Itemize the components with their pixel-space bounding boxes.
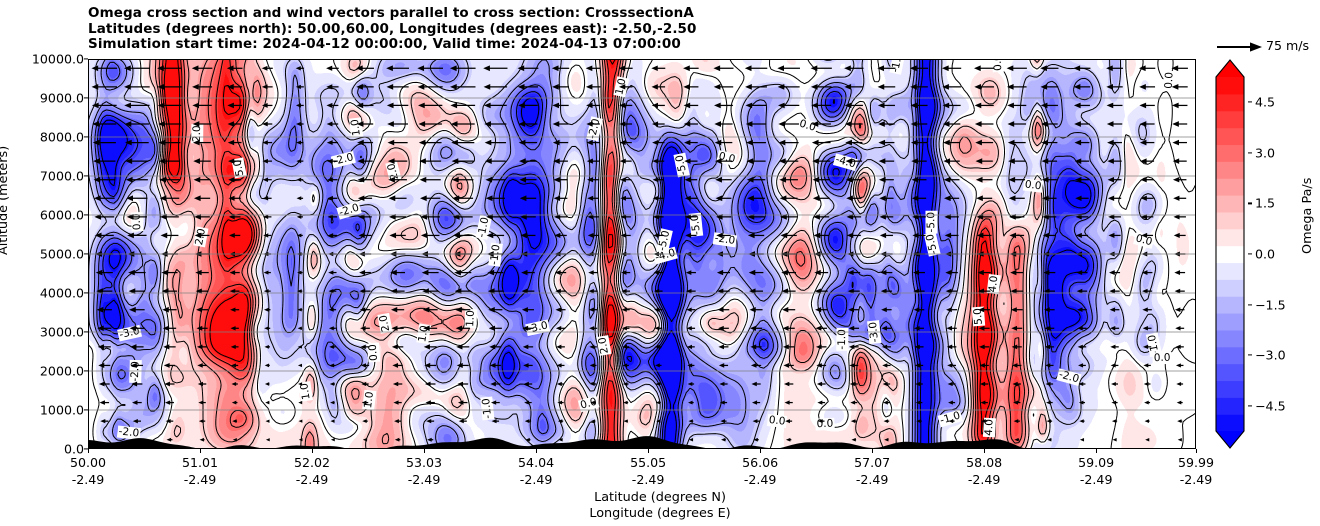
colorbar-tick-mark (1248, 203, 1252, 204)
y-tick-mark (84, 409, 88, 410)
x-tick-mark (984, 449, 985, 453)
figure-title: Omega cross section and wind vectors par… (88, 6, 1198, 53)
colorbar-tick-mark (1248, 152, 1252, 153)
x-tick-label-longitude: -2.49 (632, 472, 665, 487)
y-tick-label: 1000.0 (40, 403, 84, 418)
colorbar-tick-mark (1248, 355, 1252, 356)
y-tick-label: 6000.0 (40, 208, 84, 223)
colorbar-canvas[interactable] (1212, 59, 1248, 449)
x-tick-label-longitude: -2.49 (1180, 472, 1213, 487)
x-tick-mark (88, 449, 89, 453)
y-tick-mark (84, 175, 88, 176)
x-axis-label-longitude: Longitude (degrees E) (0, 506, 1320, 521)
colorbar-tick-label: 0.0 (1255, 247, 1275, 262)
x-tick-label-longitude: -2.49 (1080, 472, 1113, 487)
colorbar-tick-label: −3.0 (1255, 348, 1286, 363)
colorbar-tick-label: −1.5 (1255, 297, 1286, 312)
y-tick-mark (84, 292, 88, 293)
x-tick-mark (760, 449, 761, 453)
x-tick-label-latitude: 59.99 (1178, 455, 1214, 470)
colorbar[interactable] (1212, 59, 1248, 449)
colorbar-tick-mark (1248, 405, 1252, 406)
y-tick-mark (84, 58, 88, 59)
y-tick-mark (84, 331, 88, 332)
quiver-key: 75 m/s (1216, 38, 1320, 58)
x-tick-label-latitude: 50.00 (70, 455, 106, 470)
quiver-key-label: 75 m/s (1266, 38, 1309, 53)
y-tick-mark (84, 214, 88, 215)
x-tick-mark (200, 449, 201, 453)
title-line-2: Latitudes (degrees north): 50.00,60.00, … (88, 22, 1198, 38)
y-tick-mark (84, 97, 88, 98)
x-tick-label-longitude: -2.49 (856, 472, 889, 487)
x-tick-label-latitude: 51.01 (182, 455, 218, 470)
x-tick-label-latitude: 55.05 (630, 455, 666, 470)
x-tick-mark (312, 449, 313, 453)
colorbar-tick-mark (1248, 253, 1252, 254)
colorbar-tick-label: 1.5 (1255, 196, 1275, 211)
x-tick-label-longitude: -2.49 (744, 472, 777, 487)
x-tick-mark (536, 449, 537, 453)
x-tick-label-latitude: 54.04 (518, 455, 554, 470)
x-tick-label-latitude: 59.09 (1078, 455, 1114, 470)
plot-area[interactable] (88, 59, 1196, 449)
title-line-1: Omega cross section and wind vectors par… (88, 6, 1198, 22)
y-tick-mark (84, 370, 88, 371)
colorbar-tick-label: 4.5 (1255, 95, 1275, 110)
colorbar-tick-label: −4.5 (1255, 398, 1286, 413)
y-tick-label: 2000.0 (40, 364, 84, 379)
y-tick-label: 10000.0 (32, 52, 84, 67)
x-axis-label-latitude: Latitude (degrees N) (0, 490, 1320, 505)
title-line-3: Simulation start time: 2024-04-12 00:00:… (88, 37, 1198, 53)
y-tick-label: 5000.0 (40, 247, 84, 262)
y-tick-label: 3000.0 (40, 325, 84, 340)
y-tick-label: 4000.0 (40, 286, 84, 301)
y-tick-label: 8000.0 (40, 130, 84, 145)
x-tick-label-latitude: 58.08 (966, 455, 1002, 470)
x-tick-label-longitude: -2.49 (184, 472, 217, 487)
x-tick-label-latitude: 53.03 (406, 455, 442, 470)
colorbar-tick-mark (1248, 102, 1252, 103)
y-tick-mark (84, 253, 88, 254)
x-tick-label-longitude: -2.49 (72, 472, 105, 487)
x-tick-label-longitude: -2.49 (520, 472, 553, 487)
x-tick-label-longitude: -2.49 (408, 472, 441, 487)
colorbar-tick-label: 3.0 (1255, 145, 1275, 160)
x-tick-mark (424, 449, 425, 453)
colorbar-tick-mark (1248, 304, 1252, 305)
omega-cross-section-canvas[interactable] (88, 59, 1196, 449)
x-tick-mark (1096, 449, 1097, 453)
x-tick-label-latitude: 56.06 (742, 455, 778, 470)
x-tick-mark (648, 449, 649, 453)
x-tick-mark (1196, 449, 1197, 453)
y-tick-label: 7000.0 (40, 169, 84, 184)
y-tick-label: 9000.0 (40, 91, 84, 106)
x-tick-label-latitude: 57.07 (854, 455, 890, 470)
y-tick-mark (84, 136, 88, 137)
quiver-key-arrow-icon (1216, 40, 1264, 54)
x-tick-label-longitude: -2.49 (296, 472, 329, 487)
colorbar-label: Omega Pa/s (1300, 178, 1315, 254)
y-axis-label: Altitude (meters) (0, 146, 11, 255)
figure-root: Omega cross section and wind vectors par… (0, 0, 1320, 526)
x-tick-mark (872, 449, 873, 453)
x-tick-label-latitude: 52.02 (294, 455, 330, 470)
x-tick-label-longitude: -2.49 (968, 472, 1001, 487)
